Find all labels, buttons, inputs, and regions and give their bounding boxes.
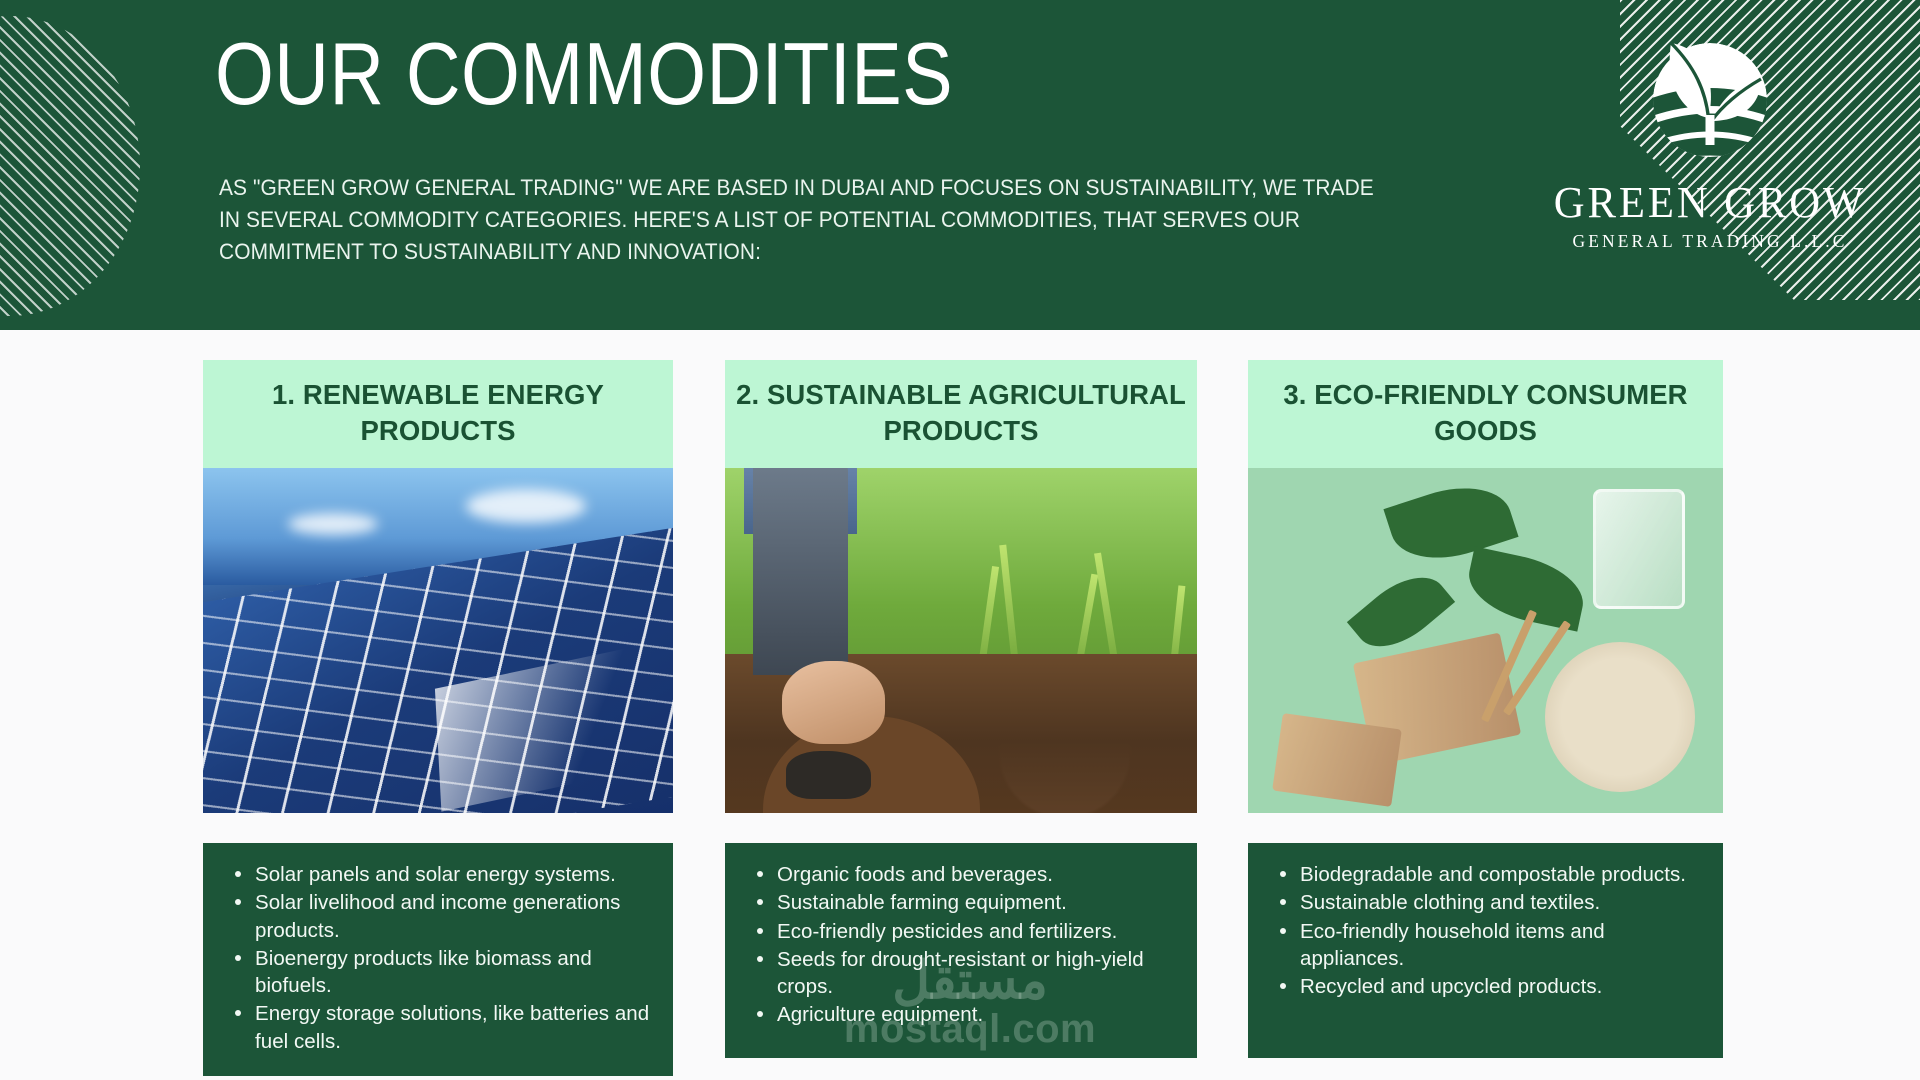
company-logo: GREEN GROW GENERAL TRADING L.L.C (1545, 22, 1875, 272)
list-item: Eco-friendly household items and applian… (1274, 918, 1703, 973)
leaf-sprout-circle-icon (1635, 22, 1785, 172)
page-subtitle: AS "GREEN GROW GENERAL TRADING" WE ARE B… (219, 172, 1386, 268)
list-item: Sustainable clothing and textiles. (1274, 889, 1703, 916)
hands-planting-seedling-photo (725, 468, 1197, 813)
striped-arc-decoration-left (0, 16, 140, 316)
commodity-card-sustainable-agriculture: 2. SUSTAINABLE AGRICULTURAL PRODUCTS Org… (725, 360, 1197, 1058)
card-bullet-list: Solar panels and solar energy systems. S… (203, 843, 673, 1076)
list-item: Biodegradable and compostable products. (1274, 861, 1703, 888)
list-item: Recycled and upcycled products. (1274, 973, 1703, 1000)
card-bullet-list: Organic foods and beverages. Sustainable… (725, 843, 1197, 1058)
solar-panels-photo (203, 468, 673, 813)
card-heading: 3. ECO-FRIENDLY CONSUMER GOODS (1248, 360, 1723, 468)
list-item: Energy storage solutions, like batteries… (229, 1000, 653, 1055)
list-item: Sustainable farming equipment. (751, 889, 1177, 916)
commodity-cards-section: 1. RENEWABLE ENERGY PRODUCTS Solar panel… (0, 330, 1920, 1080)
list-item: Seeds for drought-resistant or high-yiel… (751, 946, 1177, 1001)
card-heading: 1. RENEWABLE ENERGY PRODUCTS (203, 360, 673, 468)
list-item: Bioenergy products like biomass and biof… (229, 945, 653, 1000)
list-item: Solar panels and solar energy systems. (229, 861, 653, 888)
header-banner: OUR COMMODITIES AS "GREEN GROW GENERAL T… (0, 0, 1920, 330)
list-item: Solar livelihood and income generations … (229, 889, 653, 944)
list-item: Organic foods and beverages. (751, 861, 1177, 888)
list-item: Eco-friendly pesticides and fertilizers. (751, 918, 1177, 945)
card-heading: 2. SUSTAINABLE AGRICULTURAL PRODUCTS (725, 360, 1197, 468)
logo-tagline: GENERAL TRADING L.L.C (1545, 231, 1875, 252)
commodity-card-renewable-energy: 1. RENEWABLE ENERGY PRODUCTS Solar panel… (203, 360, 673, 1076)
page-title: OUR COMMODITIES (215, 30, 953, 118)
logo-company-name: GREEN GROW (1550, 177, 1870, 228)
list-item: Agriculture equipment. (751, 1001, 1177, 1028)
eco-friendly-goods-flatlay-photo (1248, 468, 1723, 813)
commodity-card-eco-friendly-goods: 3. ECO-FRIENDLY CONSUMER GOODS Biodegrad… (1248, 360, 1723, 1058)
card-bullet-list: Biodegradable and compostable products. … (1248, 843, 1723, 1058)
